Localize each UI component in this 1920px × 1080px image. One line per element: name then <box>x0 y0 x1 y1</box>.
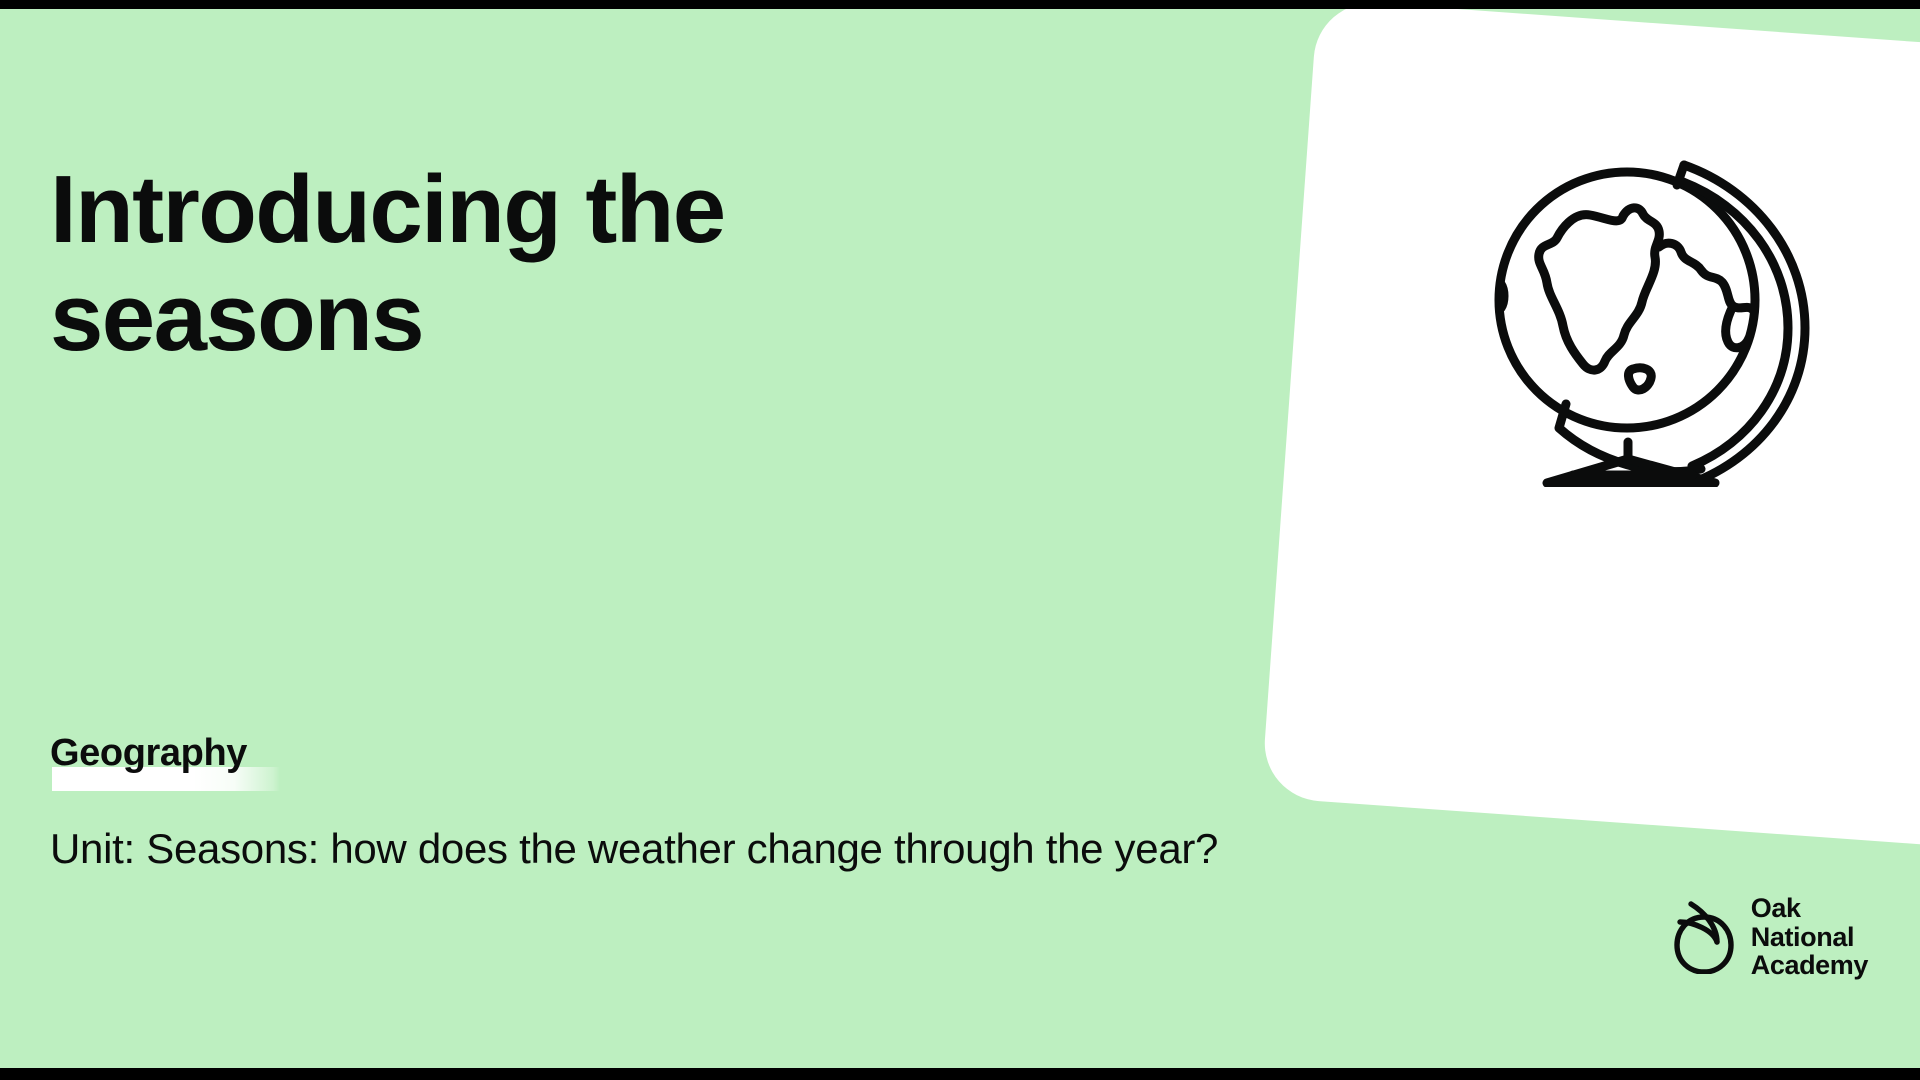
brand-logo: Oak National Academy <box>1673 894 1868 980</box>
letterbox-bar-bottom <box>0 1068 1920 1080</box>
unit-prefix-label: Unit: <box>50 825 135 872</box>
page-title: Introducing the seasons <box>50 156 810 371</box>
slide-canvas: Introducing the seasons Geography Unit: … <box>0 9 1920 1068</box>
brand-wordmark: Oak National Academy <box>1751 894 1868 980</box>
continent-island <box>1628 368 1651 390</box>
title-block: Introducing the seasons <box>50 156 1170 371</box>
continent-asia-lower <box>1726 306 1749 348</box>
acorn-icon <box>1673 900 1735 974</box>
brand-line-3: Academy <box>1751 951 1868 980</box>
brand-line-1: Oak <box>1751 894 1868 923</box>
continent-asia <box>1659 243 1753 310</box>
globe-illustration <box>1487 142 1817 487</box>
unit-value-text: Seasons: how does the weather change thr… <box>146 825 1218 872</box>
globe-edge-mark <box>1501 284 1504 308</box>
brand-line-2: National <box>1751 923 1868 952</box>
acorn-body <box>1677 917 1731 972</box>
subject-label: Geography <box>50 732 247 775</box>
subject-wrap: Geography <box>50 732 247 781</box>
continent-africa-europe <box>1539 208 1660 370</box>
letterbox-bar-top <box>0 0 1920 9</box>
unit-line: Unit: Seasons: how does the weather chan… <box>50 825 1218 873</box>
slide-frame: Introducing the seasons Geography Unit: … <box>0 0 1920 1080</box>
footer-block: Geography Unit: Seasons: how does the we… <box>50 732 1218 873</box>
